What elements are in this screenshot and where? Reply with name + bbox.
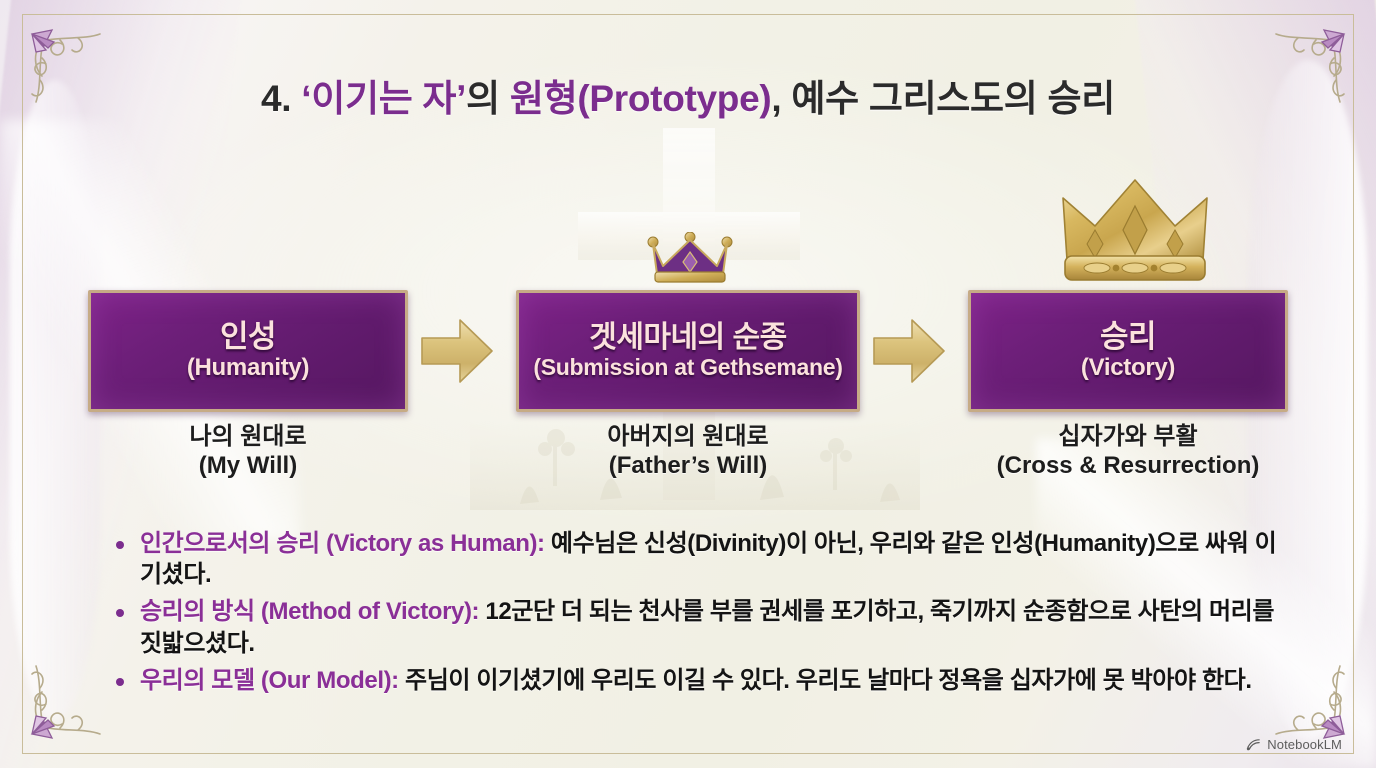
- flow-node-gethsemane[interactable]: 겟세마네의 순종 (Submission at Gethsemane): [516, 290, 860, 412]
- flow-node-label-ko: 겟세마네의 순종: [589, 322, 787, 354]
- flow-captions: 나의 원대로 (My Will) 아버지의 원대로 (Father’s Will…: [60, 422, 1316, 502]
- crown-icon: [1055, 172, 1215, 288]
- title-part-1: ‘이기는 자’: [301, 78, 466, 119]
- flow-caption-cross-resurrection: 십자가와 부활 (Cross & Resurrection): [950, 422, 1306, 481]
- bullet-lead: 우리의 모델 (Our Model):: [140, 667, 399, 694]
- list-item: 승리의 방식 (Method of Victory): 12군단 더 되는 천사…: [112, 596, 1286, 658]
- flow-node-victory[interactable]: 승리 (Victory): [968, 290, 1288, 412]
- corner-flourish-ornament: [8, 642, 128, 762]
- caption-ko: 십자가와 부활: [1058, 423, 1197, 450]
- title-part-3: 원형(Prototype): [510, 78, 772, 119]
- caption-ko: 나의 원대로: [189, 423, 306, 450]
- title-part-2: 의: [466, 78, 510, 119]
- flow-node-humanity[interactable]: 인성 (Humanity): [88, 290, 408, 412]
- flow-caption-fathers-will: 아버지의 원대로 (Father’s Will): [516, 422, 860, 481]
- bullet-body: 주님이 이기셨기에 우리도 이길 수 있다. 우리도 날마다 정욕을 십자가에 …: [399, 667, 1252, 694]
- crown-icon: [645, 232, 735, 288]
- bullet-list: 인간으로서의 승리 (Victory as Human): 예수님은 신성(Di…: [112, 528, 1286, 702]
- flow-node-label-en: (Submission at Gethsemane): [533, 355, 842, 380]
- bullet-lead: 승리의 방식 (Method of Victory):: [140, 598, 479, 625]
- flow-diagram: 인성 (Humanity) 겟세마네의 순종 (Submission at Ge…: [60, 290, 1316, 420]
- flow-node-label-en: (Victory): [1081, 355, 1175, 381]
- flow-caption-my-will: 나의 원대로 (My Will): [88, 422, 408, 481]
- flow-node-label-en: (Humanity): [187, 355, 309, 381]
- arrow-right-icon: [420, 312, 494, 390]
- bullet-lead: 인간으로서의 승리 (Victory as Human):: [140, 530, 545, 557]
- caption-en: (My Will): [88, 451, 408, 480]
- flow-node-label-ko: 인성: [220, 321, 276, 354]
- title-part-0: 4.: [261, 78, 301, 119]
- notebooklm-brand: NotebookLM: [1246, 737, 1342, 752]
- list-item: 우리의 모델 (Our Model): 주님이 이기셨기에 우리도 이길 수 있…: [112, 665, 1286, 696]
- list-item: 인간으로서의 승리 (Victory as Human): 예수님은 신성(Di…: [112, 528, 1286, 590]
- flow-node-label-ko: 승리: [1100, 321, 1156, 354]
- caption-en: (Father’s Will): [516, 451, 860, 480]
- page-title: 4. ‘이기는 자’의 원형(Prototype), 예수 그리스도의 승리: [0, 68, 1376, 122]
- caption-ko: 아버지의 원대로: [607, 423, 768, 450]
- arrow-right-icon: [872, 312, 946, 390]
- caption-en: (Cross & Resurrection): [950, 451, 1306, 480]
- notebooklm-brand-label: NotebookLM: [1267, 737, 1342, 752]
- title-part-4: , 예수 그리스도의 승리: [771, 78, 1115, 119]
- slide-root: { "slide": { "title_parts": [ { "text": …: [0, 0, 1376, 768]
- notebooklm-logo-icon: [1246, 737, 1261, 752]
